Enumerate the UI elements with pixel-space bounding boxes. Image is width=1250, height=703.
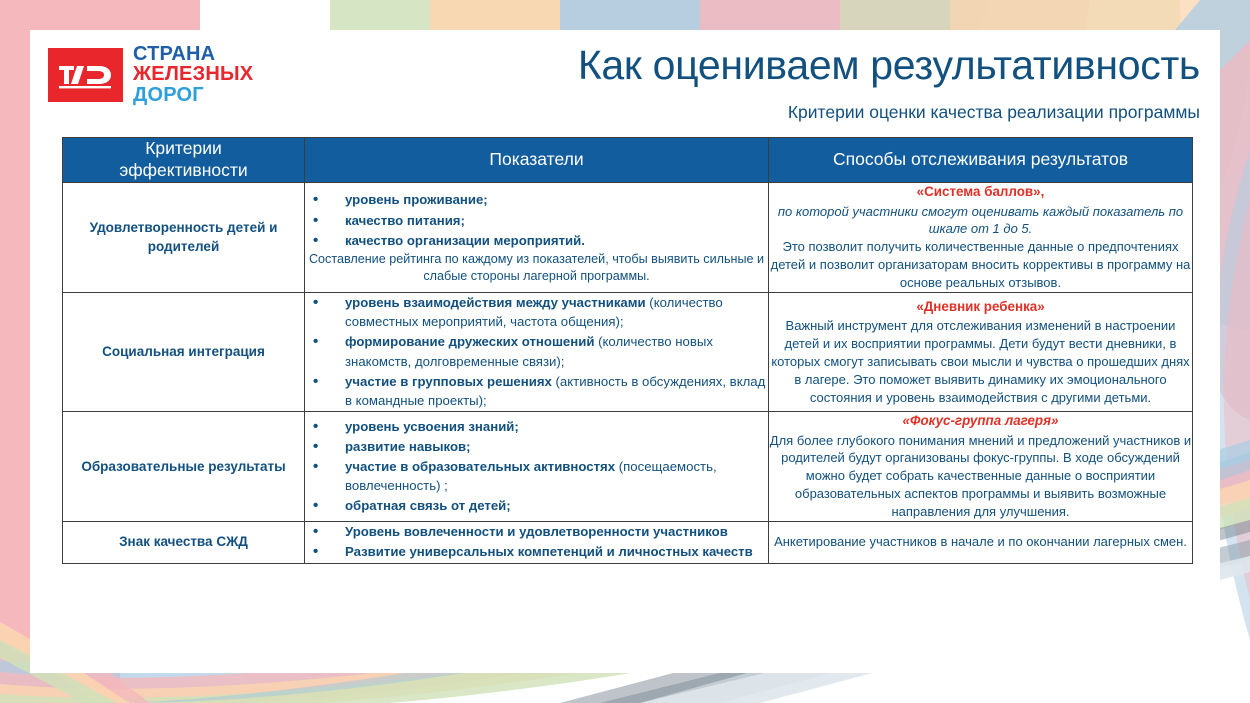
method-body: Для более глубокого понимания мнений и п…: [769, 432, 1192, 522]
evaluation-criteria-table: Критерии эффективности Показатели Способ…: [62, 137, 1193, 564]
brand-line-3: ДОРОГ: [133, 85, 253, 105]
indicator-item: качество питания;: [305, 211, 768, 230]
brand-line-1: СТРАНА: [133, 44, 253, 64]
indicator-list: Уровень вовлеченности и удовлетворенност…: [305, 522, 768, 561]
indicator-item-bold: уровень проживание;: [345, 192, 488, 207]
method-heading: «Система баллов»,: [769, 183, 1192, 202]
column-header-indicators: Показатели: [305, 138, 769, 183]
indicator-item-bold: уровень усвоения знаний;: [345, 419, 519, 434]
table-row: Социальная интеграцияуровень взаимодейст…: [63, 293, 1193, 412]
indicator-item: уровень взаимодействия между участниками…: [305, 293, 768, 331]
cell-indicators: уровень проживание;качество питания;каче…: [305, 183, 769, 293]
column-header-methods: Способы отслеживания результатов: [769, 138, 1193, 183]
cell-indicators: уровень взаимодействия между участниками…: [305, 293, 769, 412]
indicator-list: уровень усвоения знаний;развитие навыков…: [305, 417, 768, 516]
table-head: Критерии эффективности Показатели Способ…: [63, 138, 1193, 183]
method-body: Анкетирование участников в начале и по о…: [769, 533, 1192, 551]
indicator-item-bold: Развитие универсальных компетенций и лич…: [345, 544, 753, 559]
indicator-item-bold: уровень взаимодействия между участниками: [345, 295, 646, 310]
indicator-item: формирование дружеских отношений (количе…: [305, 332, 768, 370]
indicator-list: уровень взаимодействия между участниками…: [305, 293, 768, 410]
column-header-criteria: Критерии эффективности: [63, 138, 305, 183]
indicator-item-bold: обратная связь от детей;: [345, 498, 511, 513]
content-panel: СТРАНА ЖЕЛЕЗНЫХ ДОРОГ Как оцениваем резу…: [30, 30, 1220, 673]
column-header-criteria-line2: эффективности: [63, 160, 304, 182]
method-body: Это позволит получить количественные дан…: [769, 238, 1192, 292]
indicator-note: Составление рейтинга по каждому из показ…: [305, 251, 768, 285]
indicator-item: уровень усвоения знаний;: [305, 417, 768, 436]
indicator-item: развитие навыков;: [305, 437, 768, 456]
indicator-item: обратная связь от детей;: [305, 496, 768, 515]
indicator-list: уровень проживание;качество питания;каче…: [305, 190, 768, 249]
indicator-item: участие в образовательных активностях (п…: [305, 457, 768, 495]
method-body: Важный инструмент для отслеживания измен…: [769, 317, 1192, 407]
table-row: Знак качества СЖДУровень вовлеченности и…: [63, 522, 1193, 563]
method-heading: «Фокус-группа лагеря»: [769, 412, 1192, 431]
rzd-logo-mark-icon: [48, 48, 123, 102]
cell-methods: Анкетирование участников в начале и по о…: [769, 522, 1193, 563]
cell-indicators: уровень усвоения знаний;развитие навыков…: [305, 412, 769, 522]
method-body-italic: по которой участники смогут оценивать ка…: [769, 203, 1192, 239]
cell-methods: «Фокус-группа лагеря»Для более глубокого…: [769, 412, 1193, 522]
page-subtitle: Критерии оценки качества реализации прог…: [370, 102, 1200, 123]
cell-criteria: Социальная интеграция: [63, 293, 305, 412]
method-heading: «Дневник ребенка»: [769, 298, 1192, 317]
brand-wordmark: СТРАНА ЖЕЛЕЗНЫХ ДОРОГ: [133, 44, 253, 105]
indicator-item: уровень проживание;: [305, 190, 768, 209]
indicator-item-bold: формирование дружеских отношений: [345, 334, 594, 349]
indicator-item-bold: Уровень вовлеченности и удовлетворенност…: [345, 524, 728, 539]
indicator-item: участие в групповых решениях (активность…: [305, 372, 768, 410]
cell-methods: «Система баллов»,по которой участники см…: [769, 183, 1193, 293]
indicator-item: качество организации мероприятий.: [305, 231, 768, 250]
indicator-item: Уровень вовлеченности и удовлетворенност…: [305, 522, 768, 541]
indicator-item-bold: качество организации мероприятий.: [345, 233, 585, 248]
cell-methods: «Дневник ребенка»Важный инструмент для о…: [769, 293, 1193, 412]
cell-criteria: Удовлетворенность детей и родителей: [63, 183, 305, 293]
column-header-criteria-line1: Критерии: [63, 138, 304, 160]
table-header-row: Критерии эффективности Показатели Способ…: [63, 138, 1193, 183]
slide-canvas: СТРАНА ЖЕЛЕЗНЫХ ДОРОГ Как оцениваем резу…: [0, 0, 1250, 703]
table-body: Удовлетворенность детей и родителейурове…: [63, 183, 1193, 564]
indicator-item-bold: участие в групповых решениях: [345, 374, 552, 389]
brand-line-2: ЖЕЛЕЗНЫХ: [133, 64, 253, 84]
indicator-item: Развитие универсальных компетенций и лич…: [305, 542, 768, 561]
indicator-item-bold: развитие навыков;: [345, 439, 471, 454]
brand-logo: СТРАНА ЖЕЛЕЗНЫХ ДОРОГ: [48, 44, 253, 105]
cell-criteria: Знак качества СЖД: [63, 522, 305, 563]
cell-indicators: Уровень вовлеченности и удовлетворенност…: [305, 522, 769, 563]
indicator-item-bold: качество питания;: [345, 213, 465, 228]
page-title: Как оцениваем результативность: [370, 44, 1200, 87]
indicator-item-bold: участие в образовательных активностях: [345, 459, 615, 474]
table-row: Удовлетворенность детей и родителейурове…: [63, 183, 1193, 293]
cell-criteria: Образовательные результаты: [63, 412, 305, 522]
table-row: Образовательные результатыуровень усвоен…: [63, 412, 1193, 522]
